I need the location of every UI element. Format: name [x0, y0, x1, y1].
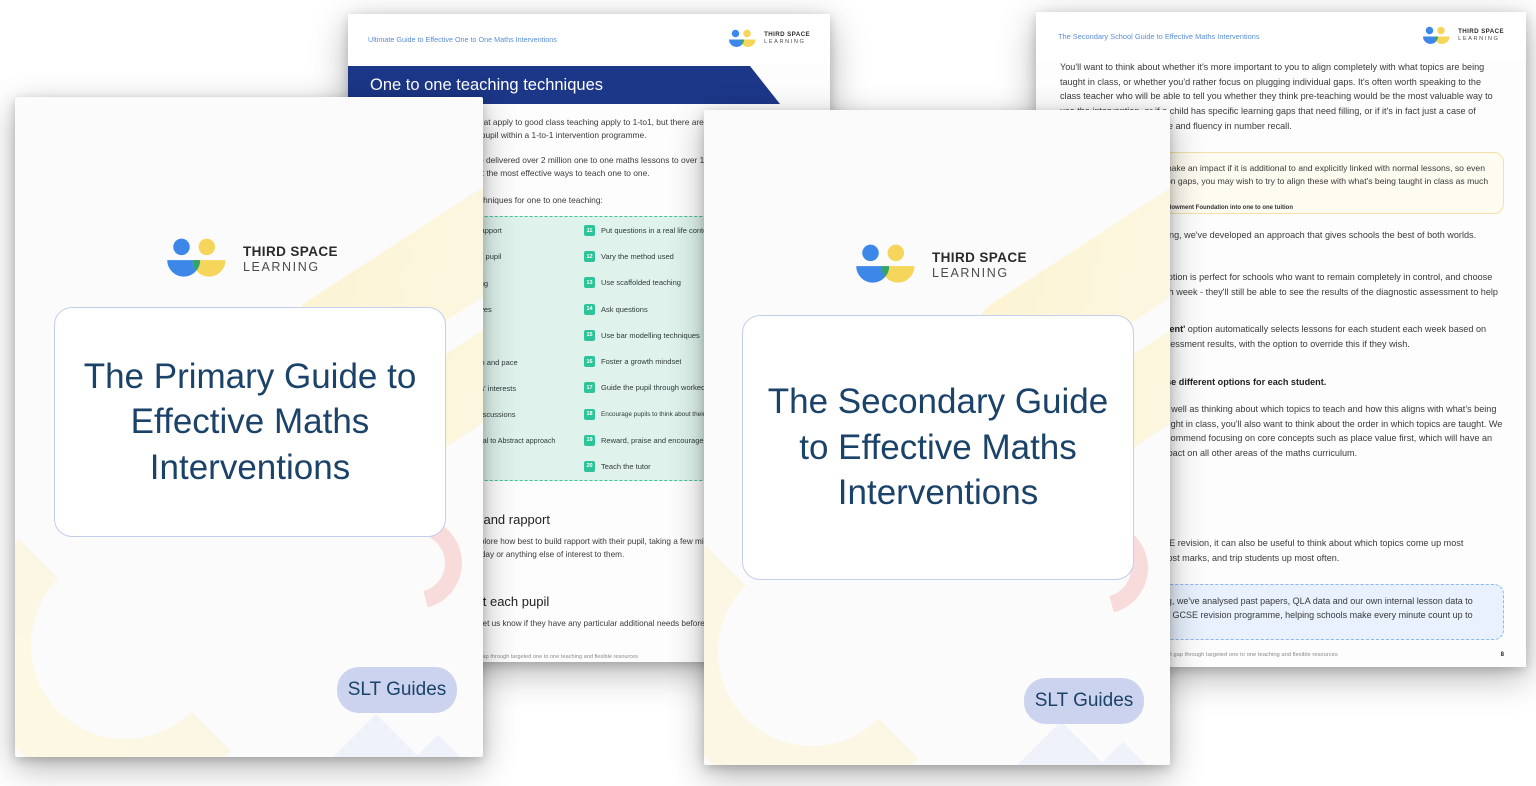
number-chip: 16	[584, 356, 595, 367]
number-chip: 20	[584, 461, 595, 472]
logo: THIRD SPACE LEARNING	[728, 29, 810, 49]
cover-logo: THIRD SPACE LEARNING	[165, 237, 338, 281]
logo-icon	[854, 243, 920, 287]
logo-wordmark: THIRD SPACE LEARNING	[243, 244, 338, 273]
primary-title: The Primary Guide to Effective Maths Int…	[81, 354, 419, 491]
logo-line-2: LEARNING	[243, 260, 338, 274]
technique-label: Put questions in a real life context	[601, 226, 713, 235]
guides-collage: Ultimate Guide to Effective One to One M…	[0, 0, 1536, 786]
logo-line-1: THIRD SPACE	[932, 250, 1027, 265]
secondary-title: The Secondary Guide to Effective Maths I…	[765, 379, 1111, 516]
logo-icon	[165, 237, 231, 281]
technique-label: Use bar modelling techniques	[601, 331, 700, 340]
logo-line-1: THIRD SPACE	[1458, 29, 1504, 36]
number-chip: 17	[584, 382, 595, 393]
technique-label: Teach the tutor	[601, 462, 651, 471]
logo-icon	[1422, 26, 1452, 46]
secondary-slt-badge[interactable]: SLT Guides	[1024, 678, 1144, 724]
decor-triangle	[332, 714, 420, 757]
logo-wordmark: THIRD SPACE LEARNING	[1458, 29, 1504, 42]
technique-label: Vary the method used	[601, 252, 674, 261]
logo-svg	[1422, 26, 1452, 46]
right-header: The Secondary School Guide to Effective …	[1036, 12, 1526, 60]
logo-svg	[165, 237, 231, 281]
technique-label: Foster a growth mindset	[601, 357, 681, 366]
logo-line-2: LEARNING	[764, 39, 810, 45]
logo-icon	[728, 29, 758, 49]
middle-eyebrow: Ultimate Guide to Effective One to One M…	[368, 35, 557, 44]
logo-svg	[728, 29, 758, 49]
logo-wordmark: THIRD SPACE LEARNING	[764, 32, 810, 45]
number-chip: 12	[584, 251, 595, 262]
technique-label: Reward, praise and encourage	[601, 436, 704, 445]
logo-line-2: LEARNING	[1458, 36, 1504, 42]
cover-logo: THIRD SPACE LEARNING	[854, 243, 1027, 287]
technique-label: Use scaffolded teaching	[601, 278, 681, 287]
logo-line-1: THIRD SPACE	[764, 32, 810, 39]
number-chip: 11	[584, 225, 595, 236]
number-chip: 19	[584, 435, 595, 446]
number-chip: 13	[584, 277, 595, 288]
primary-badge-label: SLT Guides	[348, 679, 447, 701]
number-chip: 15	[584, 330, 595, 341]
middle-header: Ultimate Guide to Effective One to One M…	[348, 14, 830, 64]
primary-slt-badge[interactable]: SLT Guides	[337, 667, 457, 713]
decor-triangle	[1017, 721, 1105, 765]
right-page-number: 8	[1501, 652, 1504, 658]
primary-guide-cover[interactable]: THIRD SPACE LEARNING The Primary Guide t…	[15, 97, 483, 757]
band-title: One to one teaching techniques	[370, 76, 603, 95]
logo-line-2: LEARNING	[932, 266, 1027, 280]
number-chip: 18	[584, 409, 595, 420]
secondary-title-card: The Secondary Guide to Effective Maths I…	[742, 315, 1134, 580]
logo-svg	[854, 243, 920, 287]
secondary-badge-label: SLT Guides	[1035, 690, 1134, 712]
logo-wordmark: THIRD SPACE LEARNING	[932, 250, 1027, 279]
logo-line-1: THIRD SPACE	[243, 244, 338, 259]
number-chip: 14	[584, 304, 595, 315]
logo: THIRD SPACE LEARNING	[1422, 26, 1504, 46]
secondary-guide-cover[interactable]: THIRD SPACE LEARNING The Secondary Guide…	[704, 110, 1170, 765]
technique-label: Ask questions	[601, 305, 648, 314]
right-image-para: As well as thinking about which topics t…	[1158, 402, 1504, 460]
right-eyebrow: The Secondary School Guide to Effective …	[1058, 32, 1260, 41]
primary-title-card: The Primary Guide to Effective Maths Int…	[54, 307, 446, 537]
